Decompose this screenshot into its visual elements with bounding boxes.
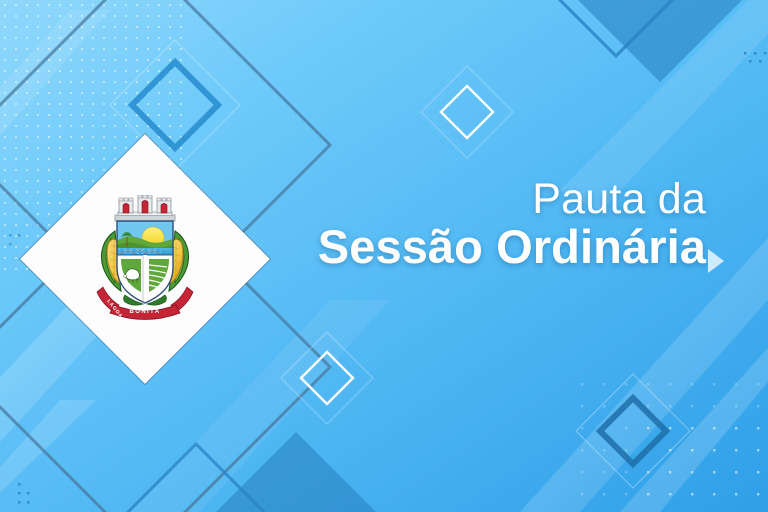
dot-grid-bottom-right bbox=[570, 372, 768, 512]
title-line-1: Pauta da bbox=[318, 178, 706, 222]
banner-root: LAGOA BONITA DO SUL Pauta da Sessão Ordi… bbox=[0, 0, 768, 512]
shield bbox=[115, 219, 175, 305]
title-line-2: Sessão Ordinária bbox=[318, 223, 706, 271]
mural-crown bbox=[115, 195, 175, 221]
page-title: Pauta da Sessão Ordinária bbox=[318, 178, 706, 271]
emblem-diamond-plate: LAGOA BONITA DO SUL bbox=[20, 134, 270, 384]
coat-of-arms: LAGOA BONITA DO SUL bbox=[81, 195, 209, 323]
ribbon-text-center: BONITA bbox=[130, 309, 161, 315]
right-arrow-icon bbox=[708, 249, 724, 273]
